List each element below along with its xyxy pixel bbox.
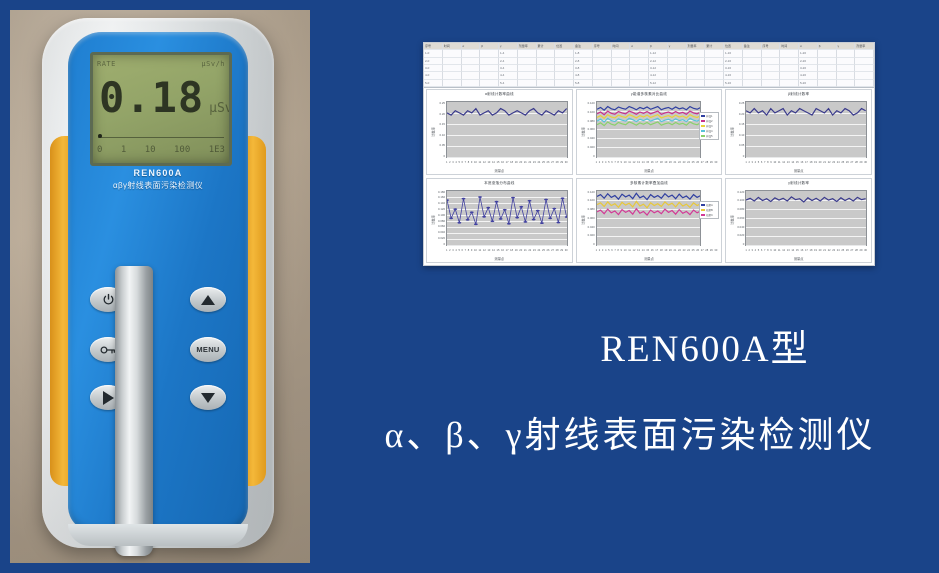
chart-title: γ能谱多核素对比曲线	[577, 92, 722, 97]
sheet-cell[interactable]	[630, 72, 649, 79]
sheet-cell[interactable]	[687, 65, 706, 72]
chart-xtick: 5	[608, 161, 609, 167]
chart-ytick: 0.060	[433, 224, 445, 228]
sheet-cell[interactable]	[780, 65, 799, 72]
chart-xtick: 5	[608, 249, 609, 255]
chart-ytick: 0.160	[433, 195, 445, 199]
chart-ytick: 0.140	[433, 201, 445, 205]
sheet-cell[interactable]	[668, 72, 687, 79]
sheet-header-cell[interactable]: α	[630, 43, 649, 50]
sheet-cell[interactable]	[743, 65, 762, 72]
chart-xtick: 4	[455, 161, 456, 167]
chart-xtick: 11	[479, 161, 482, 167]
chart-xtick: 22	[528, 161, 531, 167]
chart-xtick: 17	[805, 249, 808, 255]
chart-xtick: 10	[474, 249, 477, 255]
chart-xtick: 25	[542, 161, 545, 167]
chart-ytick: 0.040	[583, 136, 595, 140]
sheet-cell[interactable]	[705, 50, 724, 57]
chart-xtick: 25	[692, 161, 695, 167]
chart-xtick: 16	[800, 249, 803, 255]
legend-label: 核素C	[706, 213, 713, 217]
chart-xtick: 25	[841, 249, 844, 255]
chart-gridline	[597, 245, 701, 246]
sheet-cell[interactable]	[837, 80, 856, 87]
chart-xtick: 12	[633, 161, 636, 167]
chart-xticks: 1234567891011121314151617181920212223242…	[446, 161, 568, 167]
sheet-header-cell[interactable]: γ	[499, 43, 518, 50]
sheet-cell[interactable]	[687, 58, 706, 65]
sheet-cell[interactable]: 2-12	[649, 58, 668, 65]
sheet-header-cell[interactable]: 累计	[705, 43, 724, 50]
sheet-cell[interactable]	[462, 50, 481, 57]
chart-legend-item: 样品1	[701, 114, 717, 118]
chart-xtick: 17	[805, 161, 808, 167]
chart-yticks: 0.1200.1000.0800.0600.0400.0200	[583, 101, 595, 158]
sheet-cell[interactable]: 5-16	[724, 80, 743, 87]
chart-xtick: 7	[465, 161, 466, 167]
chart-xtick: 23	[832, 161, 835, 167]
sheet-cell[interactable]	[593, 58, 612, 65]
sheet-cell[interactable]	[818, 72, 837, 79]
legend-swatch	[701, 115, 705, 117]
sheet-cell[interactable]	[837, 50, 856, 57]
sheet-cell[interactable]	[818, 58, 837, 65]
chart-series-svg	[447, 102, 567, 157]
sheet-cell[interactable]	[630, 50, 649, 57]
chart-xtick: 21	[823, 161, 826, 167]
chart-cell[interactable]: γ射线计数率计数率0.1200.1000.0800.0600.0400.0200…	[725, 178, 872, 264]
chart-xtick: 30	[864, 249, 867, 255]
chart-xtick: 24	[537, 249, 540, 255]
chart-xtick: 1	[745, 249, 746, 255]
sheet-cell[interactable]	[780, 80, 799, 87]
sheet-cell[interactable]	[687, 72, 706, 79]
sheet-header-cell[interactable]: α	[799, 43, 818, 50]
sheet-cell[interactable]: 2-20	[799, 58, 818, 65]
chart-xtick: 29	[560, 161, 563, 167]
sheet-cell[interactable]	[705, 80, 724, 87]
sheet-cell[interactable]: 1-8	[574, 50, 593, 57]
sheet-cell[interactable]	[780, 50, 799, 57]
sheet-cell[interactable]	[780, 72, 799, 79]
chart-xtick: 30	[565, 161, 568, 167]
sheet-cell[interactable]	[762, 58, 781, 65]
sheet-cell[interactable]	[537, 65, 556, 72]
chart-ytick: 0.020	[433, 236, 445, 240]
sheet-cell[interactable]	[743, 50, 762, 57]
chart-xtick: 27	[850, 161, 853, 167]
sheet-cell[interactable]: 4-8	[574, 72, 593, 79]
chart-xtick: 24	[837, 249, 840, 255]
sheet-cell[interactable]: 3-0	[424, 65, 443, 72]
sheet-cell[interactable]: 3-8	[574, 65, 593, 72]
chart-xtick: 21	[673, 249, 676, 255]
chart-cell[interactable]: γ能谱多核素对比曲线计数率0.1200.1000.0800.0600.0400.…	[576, 89, 723, 175]
chart-xtick: 25	[692, 249, 695, 255]
sheet-cell[interactable]	[630, 58, 649, 65]
sheet-cell[interactable]	[593, 65, 612, 72]
sheet-cell[interactable]	[480, 65, 499, 72]
sheet-cell[interactable]: 2-16	[724, 58, 743, 65]
sheet-cell[interactable]	[555, 50, 574, 57]
chart-title: γ射线计数率	[726, 181, 871, 186]
sheet-cell[interactable]	[668, 65, 687, 72]
sheet-cell[interactable]: 2-0	[424, 58, 443, 65]
sheet-cell[interactable]	[443, 80, 462, 87]
sheet-cell[interactable]	[743, 72, 762, 79]
chart-xtick: 18	[810, 249, 813, 255]
sheet-cell[interactable]	[612, 72, 631, 79]
chart-xtick: 25	[542, 249, 545, 255]
sheet-cell[interactable]: 3-16	[724, 65, 743, 72]
sheet-header-cell[interactable]: α	[462, 43, 481, 50]
chart-xtick: 12	[782, 161, 785, 167]
sheet-header-cell[interactable]: 时间	[612, 43, 631, 50]
sheet-cell[interactable]	[480, 80, 499, 87]
chart-xtick: 7	[614, 249, 615, 255]
sheet-header-cell[interactable]: 时间	[443, 43, 462, 50]
sheet-cell[interactable]: 3-4	[499, 65, 518, 72]
chart-xtick: 3	[452, 249, 453, 255]
chart-xtick: 11	[628, 249, 631, 255]
chart-xtick: 3	[452, 161, 453, 167]
sheet-cell[interactable]: 1-12	[649, 50, 668, 57]
chart-xtick: 28	[855, 161, 858, 167]
sheet-cell[interactable]	[612, 50, 631, 57]
sheet-cell[interactable]	[612, 80, 631, 87]
chart-xtick: 9	[770, 249, 771, 255]
chart-xtick: 19	[814, 161, 817, 167]
sheet-cell[interactable]	[480, 58, 499, 65]
sheet-cell[interactable]	[443, 65, 462, 72]
chart-xtick: 28	[855, 249, 858, 255]
sheet-cell[interactable]: 5-20	[799, 80, 818, 87]
chart-xtick: 22	[828, 161, 831, 167]
sheet-cell[interactable]	[537, 72, 556, 79]
sheet-cell[interactable]	[518, 50, 537, 57]
chart-xtick: 4	[605, 249, 606, 255]
chart-ytick: 0.080	[583, 119, 595, 123]
sheet-cell[interactable]: 4-20	[799, 72, 818, 79]
chart-xtick: 17	[506, 161, 509, 167]
sheet-cell[interactable]	[818, 80, 837, 87]
sheet-cell[interactable]	[818, 65, 837, 72]
chart-xtick: 27	[551, 249, 554, 255]
chart-ytick: 0	[732, 242, 744, 246]
chart-ytick: 0.100	[583, 110, 595, 114]
sheet-cell[interactable]	[705, 58, 724, 65]
sheet-cell[interactable]	[555, 65, 574, 72]
chart-xlabel: 测量点	[577, 168, 722, 173]
legend-label: 样品1	[706, 114, 712, 118]
sheet-cell[interactable]	[443, 50, 462, 57]
legend-label: 核素A	[706, 203, 712, 207]
chart-ytick: 0.120	[583, 101, 595, 105]
down-key[interactable]	[190, 385, 226, 410]
sheet-cell[interactable]: 5-8	[574, 80, 593, 87]
sheet-cell[interactable]: 5-12	[649, 80, 668, 87]
chart-ytick: 0.15	[433, 122, 445, 126]
sheet-cell[interactable]	[762, 72, 781, 79]
chart-xtick: 22	[528, 249, 531, 255]
chart-xtick: 28	[556, 161, 559, 167]
chart-xtick: 9	[471, 161, 472, 167]
sheet-cell[interactable]: 2-8	[574, 58, 593, 65]
sheet-cell[interactable]: 3-20	[799, 65, 818, 72]
chart-xtick: 8	[468, 249, 469, 255]
chart-xtick: 15	[497, 161, 500, 167]
chart-ytick: 0.20	[732, 112, 744, 116]
sheet-cell[interactable]	[762, 50, 781, 57]
chart-ytick: 0	[732, 154, 744, 158]
sheet-cell[interactable]	[668, 50, 687, 57]
sheet-header-cell[interactable]: 备注	[743, 43, 762, 50]
chart-xtick: 13	[637, 161, 640, 167]
sheet-cell[interactable]	[593, 50, 612, 57]
sheet-cell[interactable]	[705, 65, 724, 72]
chart-xtick: 9	[770, 161, 771, 167]
sheet-cell[interactable]	[462, 72, 481, 79]
chart-xtick: 29	[710, 249, 713, 255]
sheet-header-cell[interactable]: 序号	[424, 43, 443, 50]
triangle-up-icon	[201, 295, 215, 305]
chart-xtick: 23	[832, 249, 835, 255]
sheet-cell[interactable]	[837, 72, 856, 79]
chart-ytick: 0.25	[433, 101, 445, 105]
chart-xtick: 18	[660, 249, 663, 255]
chart-xtick: 5	[458, 249, 459, 255]
sheet-cell[interactable]	[668, 80, 687, 87]
sheet-header-cell[interactable]: γ	[668, 43, 687, 50]
sheet-cell[interactable]	[593, 72, 612, 79]
chart-ytick: 0.120	[583, 190, 595, 194]
menu-key[interactable]: MENU	[190, 337, 226, 362]
chart-xtick: 29	[560, 249, 563, 255]
chart-xtick: 11	[778, 161, 781, 167]
chart-xtick: 14	[642, 161, 645, 167]
sheet-cell[interactable]	[518, 72, 537, 79]
sheet-header-cell[interactable]: 累计	[537, 43, 556, 50]
sheet-cell[interactable]	[443, 72, 462, 79]
sheet-cell[interactable]	[480, 72, 499, 79]
chart-xtick: 10	[773, 249, 776, 255]
sheet-header-cell[interactable]: 序号	[762, 43, 781, 50]
chart-xtick: 16	[501, 161, 504, 167]
chart-xtick: 15	[646, 249, 649, 255]
chart-cell[interactable]: α射线计数率曲线计数率0.250.200.150.100.05012345678…	[426, 89, 573, 175]
sheet-header-cell[interactable]: γ	[837, 43, 856, 50]
chart-xtick: 23	[683, 249, 686, 255]
chart-xtick: 20	[519, 161, 522, 167]
sheet-cell[interactable]	[855, 50, 874, 57]
chart-xtick: 15	[646, 161, 649, 167]
sheet-cell[interactable]	[555, 80, 574, 87]
sheet-cell[interactable]: 4-0	[424, 72, 443, 79]
chart-ytick: 0.080	[583, 207, 595, 211]
sheet-cell[interactable]	[630, 65, 649, 72]
chart-cell[interactable]: 多核素计数率叠加曲线计数率0.1200.1000.0800.0600.0400.…	[576, 178, 723, 264]
sheet-cell[interactable]: 2-4	[499, 58, 518, 65]
chart-xtick: 4	[755, 249, 756, 255]
sheet-header-cell[interactable]: 剂量率	[687, 43, 706, 50]
chart-xtick: 26	[846, 161, 849, 167]
chart-xtick: 24	[687, 249, 690, 255]
chart-title: 本底涨落分布曲线	[427, 181, 572, 186]
chart-xtick: 26	[696, 249, 699, 255]
sheet-cell[interactable]: 1-16	[724, 50, 743, 57]
chart-xtick: 1	[596, 249, 597, 255]
sheet-cell[interactable]	[462, 65, 481, 72]
sheet-cell[interactable]	[818, 50, 837, 57]
sheet-header-cell[interactable]: 剂量率	[518, 43, 537, 50]
sheet-cell[interactable]	[518, 58, 537, 65]
chart-xtick: 13	[637, 249, 640, 255]
sheet-cell[interactable]	[855, 80, 874, 87]
sheet-cell[interactable]	[762, 65, 781, 72]
legend-swatch	[701, 120, 705, 122]
chart-xtick: 2	[748, 249, 749, 255]
sheet-header-cell[interactable]: 时间	[780, 43, 799, 50]
chart-xtick: 23	[533, 249, 536, 255]
sheet-cell[interactable]	[837, 58, 856, 65]
sheet-cell[interactable]: 5-0	[424, 80, 443, 87]
chart-xtick: 19	[515, 249, 518, 255]
sheet-cell[interactable]	[743, 58, 762, 65]
sheet-cell[interactable]	[480, 50, 499, 57]
sheet-cell[interactable]: 3-12	[649, 65, 668, 72]
sheet-cell[interactable]: 5-4	[499, 80, 518, 87]
chart-xtick: 4	[455, 249, 456, 255]
sheet-cell[interactable]	[855, 58, 874, 65]
chart-xtick: 18	[510, 161, 513, 167]
chart-xtick: 26	[696, 161, 699, 167]
sheet-cell[interactable]: 1-0	[424, 50, 443, 57]
chart-xtick: 3	[602, 161, 603, 167]
chart-xtick: 7	[465, 249, 466, 255]
sheet-cell[interactable]: 1-4	[499, 50, 518, 57]
sheet-header-cell[interactable]: 位置	[555, 43, 574, 50]
sheet-cell[interactable]	[593, 80, 612, 87]
measurement-software-screenshot[interactable]: 序号时间αβγ剂量率累计位置备注序号时间αβγ剂量率累计位置备注序号时间αβγ剂…	[423, 42, 875, 266]
sheet-cell[interactable]	[687, 80, 706, 87]
sheet-cell[interactable]	[443, 58, 462, 65]
chart-ytick: 0.05	[433, 143, 445, 147]
sheet-cell[interactable]	[780, 58, 799, 65]
sheet-cell[interactable]	[837, 65, 856, 72]
sheet-header-cell[interactable]: β	[818, 43, 837, 50]
sheet-cell[interactable]	[518, 80, 537, 87]
up-key[interactable]	[190, 287, 226, 312]
chart-xlabel: 测量点	[427, 168, 572, 173]
sheet-cell[interactable]	[518, 65, 537, 72]
sheet-cell[interactable]	[555, 58, 574, 65]
sheet-cell[interactable]	[537, 58, 556, 65]
sheet-header-cell[interactable]: 位置	[724, 43, 743, 50]
chart-xtick: 8	[767, 249, 768, 255]
chart-xtick: 10	[624, 249, 627, 255]
chart-xtick: 7	[764, 161, 765, 167]
chart-xtick: 30	[714, 249, 717, 255]
sheet-cell[interactable]: 4-4	[499, 72, 518, 79]
chart-xticks: 1234567891011121314151617181920212223242…	[745, 249, 867, 255]
data-spreadsheet[interactable]: 序号时间αβγ剂量率累计位置备注序号时间αβγ剂量率累计位置备注序号时间αβγ剂…	[424, 43, 874, 88]
chart-xtick: 18	[510, 249, 513, 255]
chart-ytick: 0.080	[433, 219, 445, 223]
chart-yticks: 0.1800.1600.1400.1200.1000.0800.0600.040…	[433, 190, 445, 247]
chart-xtick: 30	[714, 161, 717, 167]
chart-xtick: 24	[837, 161, 840, 167]
chart-cell[interactable]: β射线计数率计数率0.250.200.150.100.0501234567891…	[725, 89, 872, 175]
sheet-cell[interactable]	[462, 80, 481, 87]
chart-xtick: 14	[642, 249, 645, 255]
chart-xtick: 19	[515, 161, 518, 167]
chart-yticks: 0.250.200.150.100.050	[732, 101, 744, 158]
sheet-header-cell[interactable]: 序号	[593, 43, 612, 50]
chart-xtick: 15	[796, 161, 799, 167]
chart-yticks: 0.1200.1000.0800.0600.0400.0200	[732, 190, 744, 247]
sheet-cell[interactable]	[462, 58, 481, 65]
sheet-cell[interactable]	[555, 72, 574, 79]
chart-xticks: 1234567891011121314151617181920212223242…	[596, 249, 718, 255]
chart-series-svg	[447, 191, 567, 246]
chart-yticks: 0.1200.1000.0800.0600.0400.0200	[583, 190, 595, 247]
sheet-cell[interactable]	[705, 72, 724, 79]
sheet-header-cell[interactable]: β	[480, 43, 499, 50]
chart-xtick: 21	[673, 161, 676, 167]
chart-xtick: 2	[599, 161, 600, 167]
chart-cell[interactable]: 本底涨落分布曲线计数率0.1800.1600.1400.1200.1000.08…	[426, 178, 573, 264]
sheet-cell[interactable]	[855, 65, 874, 72]
sheet-cell[interactable]: 4-16	[724, 72, 743, 79]
chart-xtick: 22	[678, 249, 681, 255]
chart-plot-area	[446, 101, 568, 158]
sheet-cell[interactable]	[668, 58, 687, 65]
sheet-cell[interactable]	[687, 50, 706, 57]
chart-xtick: 9	[621, 249, 622, 255]
sheet-cell[interactable]: 4-12	[649, 72, 668, 79]
sheet-cell[interactable]	[612, 58, 631, 65]
chart-ytick: 0.100	[732, 198, 744, 202]
chart-legend: 核素A核素B核素C	[699, 201, 719, 219]
chart-ytick: 0.060	[732, 216, 744, 220]
legend-label: 样品3	[706, 124, 712, 128]
sheet-cell[interactable]	[855, 72, 874, 79]
chart-yticks: 0.250.200.150.100.050	[433, 101, 445, 158]
device-foot	[68, 524, 248, 546]
chart-xtick: 27	[701, 249, 704, 255]
chart-xtick: 1	[596, 161, 597, 167]
sheet-cell[interactable]	[537, 50, 556, 57]
sheet-cell[interactable]	[762, 80, 781, 87]
device-faceplate: RATE μSv/h 0.18 μSv/h 0 1 10 100 1E3	[68, 32, 248, 532]
sheet-header-cell[interactable]: 剂量率	[855, 43, 874, 50]
page-subtitle: α、β、γ射线表面污染检测仪	[330, 406, 930, 458]
chart-ytick: 0.10	[433, 133, 445, 137]
sheet-cell[interactable]	[630, 80, 649, 87]
triangle-right-icon	[103, 391, 114, 405]
chart-xtick: 6	[462, 249, 463, 255]
legend-label: 样品4	[706, 129, 712, 133]
sheet-header-cell[interactable]: β	[649, 43, 668, 50]
chart-ytick: 0	[433, 242, 445, 246]
chart-xtick: 8	[767, 161, 768, 167]
sheet-cell[interactable]	[612, 65, 631, 72]
sheet-header-cell[interactable]: 备注	[574, 43, 593, 50]
sheet-cell[interactable]	[743, 80, 762, 87]
sheet-cell[interactable]: 1-20	[799, 50, 818, 57]
sheet-cell[interactable]	[537, 80, 556, 87]
